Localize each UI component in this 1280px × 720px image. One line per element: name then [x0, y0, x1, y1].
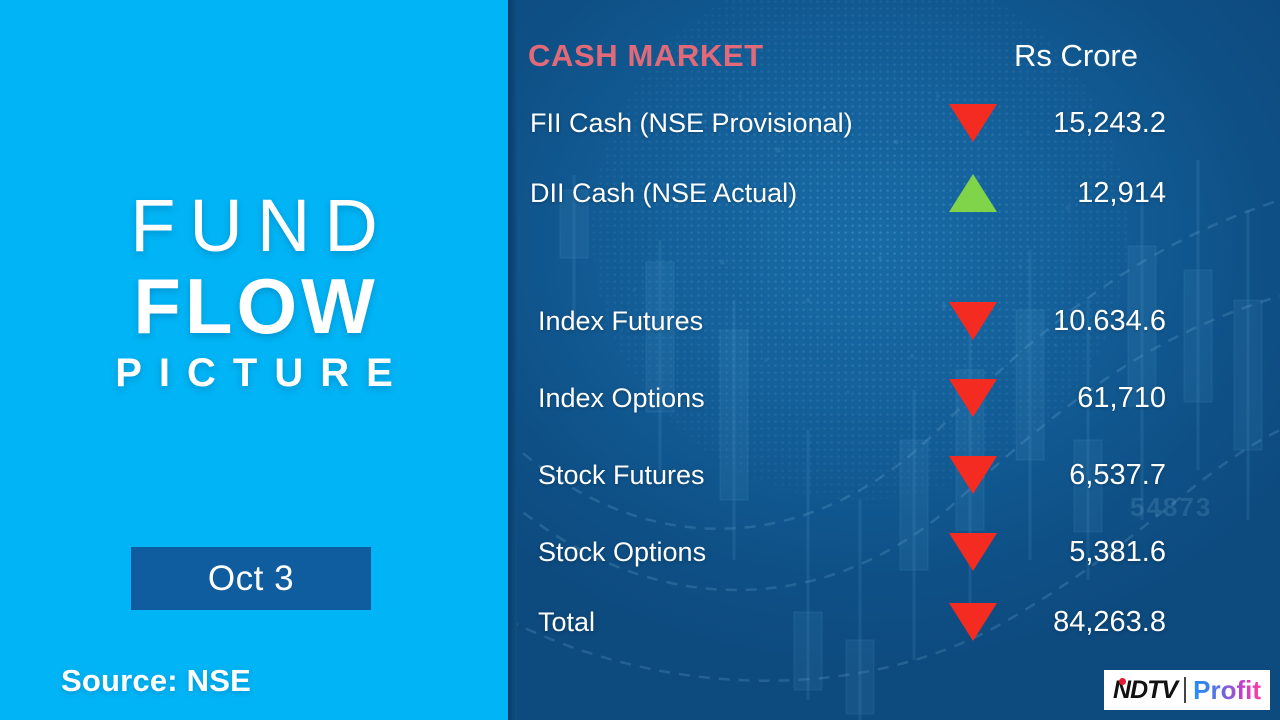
ndtv-dot-icon	[1119, 678, 1126, 685]
logo-divider	[1184, 677, 1186, 703]
row-label: Stock Futures	[538, 460, 705, 491]
row-label: DII Cash (NSE Actual)	[530, 178, 797, 209]
row-value: 84,263.8	[1008, 606, 1166, 639]
triangle-down-icon	[945, 379, 1001, 417]
table-row: Index Options 61,710	[508, 375, 1280, 421]
row-value: 5,381.6	[1008, 536, 1166, 569]
title-line-flow: FLOW	[0, 266, 508, 346]
table-row: DII Cash (NSE Actual) 12,914	[508, 170, 1280, 216]
panel-divider	[508, 0, 517, 720]
triangle-down-icon	[945, 104, 1001, 142]
table-row: Stock Futures 6,537.7	[508, 452, 1280, 498]
table-row: FII Cash (NSE Provisional) 15,243.2	[508, 100, 1280, 146]
page-title: FUND FLOW PICTURE	[0, 186, 508, 400]
triangle-down-icon	[945, 456, 1001, 494]
profit-wordmark: Profit	[1193, 675, 1261, 706]
row-label: Stock Options	[538, 537, 706, 568]
source-label: Source: NSE	[61, 663, 251, 699]
row-value: 12,914	[1008, 177, 1166, 210]
row-value: 6,537.7	[1008, 459, 1166, 492]
table-row: Stock Options 5,381.6	[508, 529, 1280, 575]
title-line-fund: FUND	[0, 186, 508, 266]
date-badge: Oct 3	[131, 547, 371, 610]
table-row: Total 84,263.8	[508, 599, 1280, 645]
row-label: Total	[538, 607, 595, 638]
fund-flow-table: FII Cash (NSE Provisional) 15,243.2 DII …	[508, 0, 1280, 720]
row-label: FII Cash (NSE Provisional)	[530, 108, 853, 139]
infographic-canvas: FUND FLOW PICTURE Oct 3 Source: NSE	[0, 0, 1280, 720]
triangle-down-icon	[945, 603, 1001, 641]
triangle-up-icon	[945, 174, 1001, 212]
date-badge-label: Oct 3	[208, 559, 294, 599]
row-value: 10.634.6	[1008, 305, 1166, 338]
row-value: 61,710	[1008, 382, 1166, 415]
data-panel: 54873 CASH MARKET Rs Crore FII Cash (NSE…	[508, 0, 1280, 720]
triangle-down-icon	[945, 533, 1001, 571]
table-row: Index Futures 10.634.6	[508, 298, 1280, 344]
title-line-picture: PICTURE	[0, 346, 508, 400]
row-label: Index Options	[538, 383, 705, 414]
row-label: Index Futures	[538, 306, 703, 337]
ndtv-profit-logo: NDTV Profit	[1104, 670, 1270, 710]
left-branding-panel: FUND FLOW PICTURE Oct 3 Source: NSE	[0, 0, 508, 720]
triangle-down-icon	[945, 302, 1001, 340]
row-value: 15,243.2	[1008, 107, 1166, 140]
